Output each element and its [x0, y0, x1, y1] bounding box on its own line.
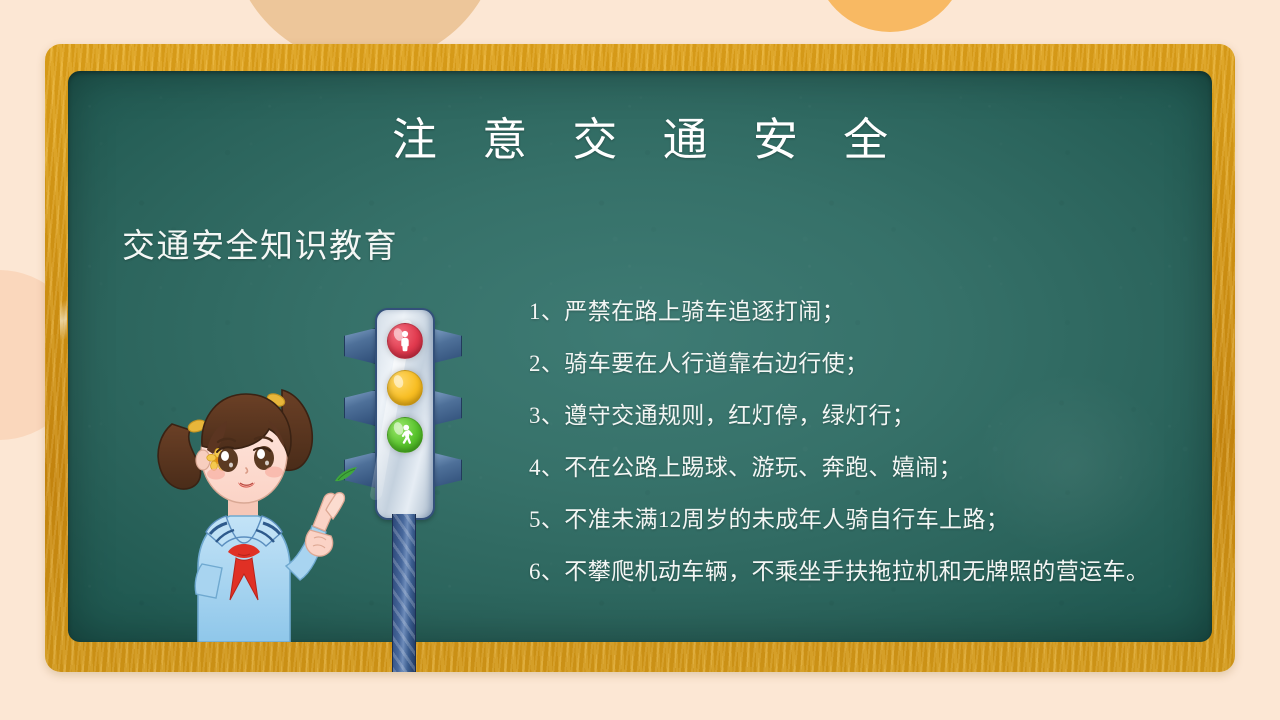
slide-canvas: 注 意 交 通 安 全 交通安全知识教育 1、严禁在路上骑车追逐打闹； 2、骑车…: [0, 0, 1280, 720]
pedestrian-walking-icon: [396, 424, 414, 446]
list-item: 3、遵守交通规则，红灯停，绿灯行；: [529, 404, 1189, 427]
lamp-visor-left-red: [344, 328, 376, 364]
traffic-light-housing: [375, 308, 435, 520]
list-item: 4、不在公路上踢球、游玩、奔跑、嬉闹；: [529, 456, 1189, 479]
pedestrian-standing-icon: [396, 330, 414, 352]
decorative-circle-orange: [814, 0, 966, 32]
list-item: 2、骑车要在人行道靠右边行使；: [529, 352, 1189, 375]
lamp-shine: [392, 374, 405, 389]
traffic-light-pole: [392, 514, 416, 672]
yellow-light: [387, 370, 423, 406]
section-subtitle: 交通安全知识教育: [122, 219, 398, 267]
list-item: 6、不攀爬机动车辆，不乘坐手扶拖拉机和无牌照的营运车。: [529, 560, 1189, 583]
list-item: 5、不准未满12周岁的未成年人骑自行车上路；: [529, 508, 1189, 531]
cartoon-schoolgirl-illustration: [150, 368, 365, 642]
page-title: 注 意 交 通 安 全: [0, 103, 1280, 168]
safety-rules-list: 1、严禁在路上骑车追逐打闹； 2、骑车要在人行道靠右边行使； 3、遵守交通规则，…: [529, 300, 1189, 583]
green-light: [387, 417, 423, 453]
red-light: [387, 323, 423, 359]
list-item: 1、严禁在路上骑车追逐打闹；: [529, 300, 1189, 323]
